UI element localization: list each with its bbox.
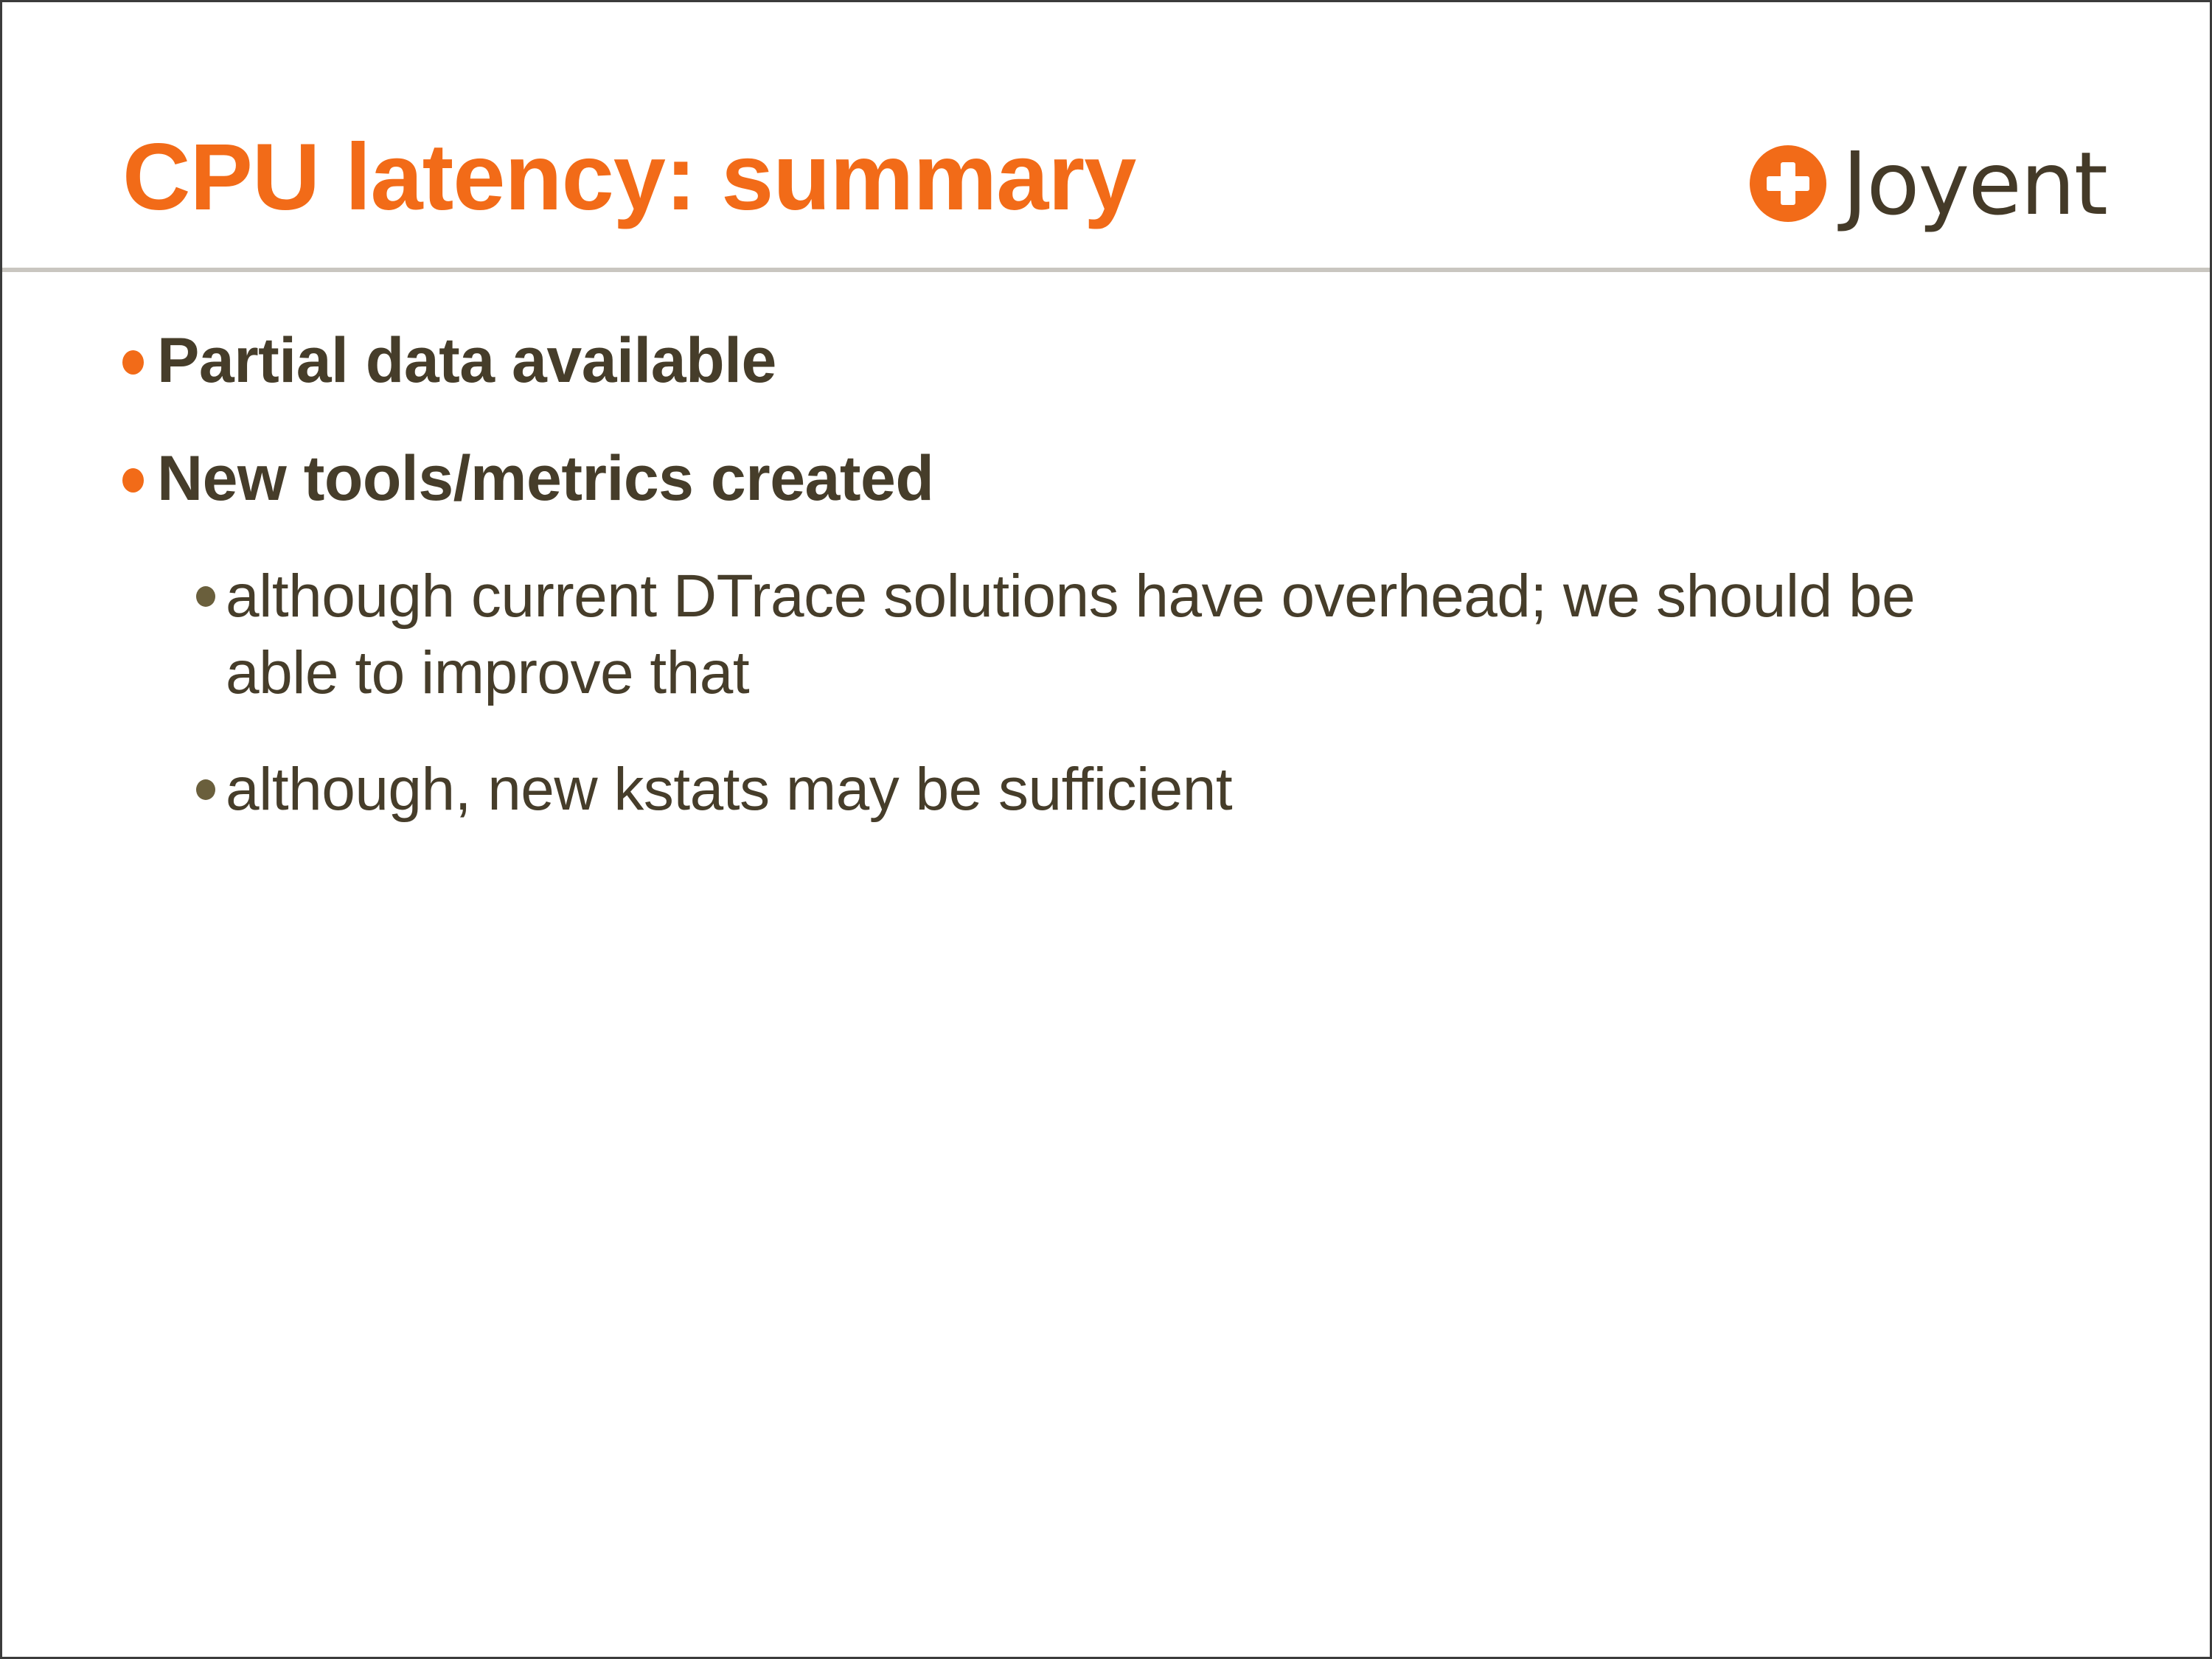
bullet-text: although, new kstats may be sufficient xyxy=(226,751,1232,828)
bullet-item: although, new kstats may be sufficient xyxy=(196,751,2121,828)
joyent-plus-circle-icon xyxy=(1750,145,1826,222)
joyent-logo: Joyent xyxy=(1750,139,2107,228)
bullet-text: Partial data available xyxy=(157,322,776,399)
presentation-slide: CPU latency: summary Joyent Partial data… xyxy=(0,0,2212,1659)
slide-header: CPU latency: summary Joyent xyxy=(2,2,2210,269)
bullet-dot-icon xyxy=(122,468,144,493)
slide-body: Partial data available New tools/metrics… xyxy=(2,272,2210,1657)
bullet-dot-icon xyxy=(196,586,215,607)
brand-name: Joyent xyxy=(1843,139,2107,228)
bullet-text: although current DTrace solutions have o… xyxy=(226,558,1921,712)
bullet-item: Partial data available xyxy=(122,322,2121,399)
bullet-text: New tools/metrics created xyxy=(157,440,933,517)
bullet-item: although current DTrace solutions have o… xyxy=(196,558,2121,712)
bullet-item: New tools/metrics created xyxy=(122,440,2121,517)
page-title: CPU latency: summary xyxy=(122,126,1135,229)
bullet-dot-icon xyxy=(122,350,144,375)
bullet-dot-icon xyxy=(196,779,215,800)
